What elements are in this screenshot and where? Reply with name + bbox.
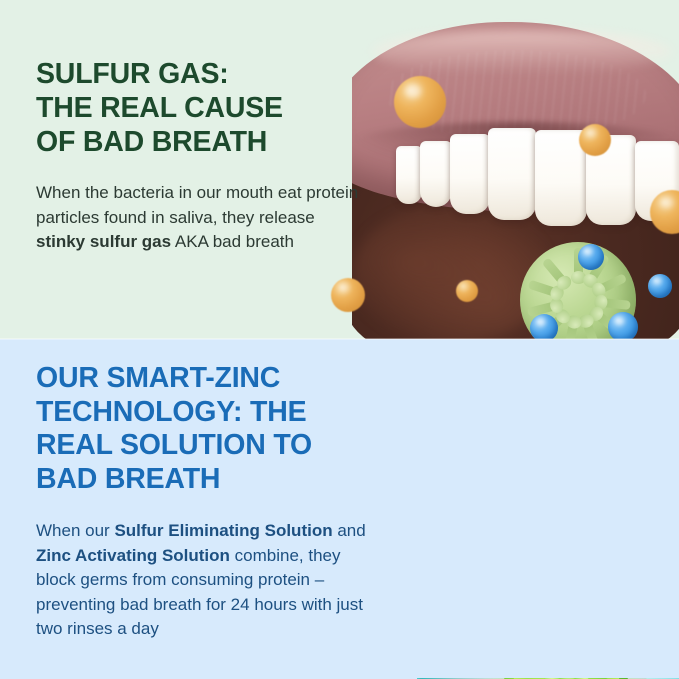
tooth-upper: [535, 130, 587, 226]
bottom-headline-line-3: REAL SOLUTION TO: [36, 429, 312, 461]
top-headline-line-1: SULFUR GAS:: [36, 58, 229, 90]
bacteria-germ-icon: [520, 242, 636, 339]
top-body-emphasis: stinky sulfur gas: [36, 232, 171, 251]
tooth-upper: [420, 141, 452, 207]
sulfur-gas-particle: [579, 124, 611, 156]
bottom-headline-line-1: OUR SMART-ZINC: [36, 362, 280, 394]
sulfur-gas-particle: [456, 280, 478, 302]
tooth-upper: [396, 146, 422, 204]
bottom-body-emphasis-1: Sulfur Eliminating Solution: [114, 521, 332, 540]
germ-spike: [598, 273, 627, 293]
bottom-headline-line-4: BAD BREATH: [36, 463, 220, 495]
top-headline: SULFUR GAS: THE REAL CAUSE OF BAD BREATH: [36, 57, 366, 159]
germ-spike: [594, 311, 622, 335]
oral-cavity: [352, 54, 679, 339]
germ-spike: [563, 323, 578, 339]
germ-spike: [526, 301, 555, 317]
bottom-body-text: When our Sulfur Eliminating Solution and…: [36, 519, 366, 642]
zinc-particle: [578, 244, 604, 270]
germ-spike: [539, 314, 565, 339]
bottom-headline: OUR SMART-ZINC TECHNOLOGY: THE REAL SOLU…: [36, 362, 366, 496]
germ-core: [520, 242, 636, 339]
germ-spike: [527, 280, 556, 297]
infographic-poster: SULFUR GAS: THE REAL CAUSE OF BAD BREATH…: [0, 0, 679, 679]
germ-spike: [582, 321, 600, 339]
germ-spike: [574, 248, 583, 276]
germ-spike: [587, 254, 609, 283]
top-body-text: When the bacteria in our mouth eat prote…: [36, 181, 366, 255]
sulfur-gas-particle: [331, 278, 365, 312]
bottom-body-part-2: and: [333, 521, 366, 540]
zinc-particle: [608, 312, 638, 339]
top-body-part-2: AKA bad breath: [171, 232, 294, 251]
sulfur-gas-particle: [650, 190, 679, 234]
tooth-upper: [635, 141, 679, 221]
tooth-upper: [488, 128, 536, 220]
germ-spike: [601, 298, 630, 310]
panel-divider: [0, 338, 679, 340]
upper-mouth-graphic: [352, 0, 679, 339]
gumline-shadow: [352, 122, 679, 172]
top-text-block: SULFUR GAS: THE REAL CAUSE OF BAD BREATH…: [36, 57, 366, 255]
sulfur-gas-particle: [394, 76, 446, 128]
top-headline-line-2: THE REAL CAUSE: [36, 92, 283, 124]
bottom-body-part-1: When our: [36, 521, 114, 540]
tooth-upper: [450, 134, 490, 214]
bottom-panel-smart-zinc: OUR SMART-ZINC TECHNOLOGY: THE REAL SOLU…: [0, 339, 679, 679]
top-body-part-1: When the bacteria in our mouth eat prote…: [36, 183, 358, 227]
germ-spike: [541, 257, 566, 284]
upper-lip-and-gum: [352, 22, 679, 212]
tooth-upper: [586, 135, 636, 225]
bottom-headline-line-2: TECHNOLOGY: THE: [36, 396, 306, 428]
bottom-text-block: OUR SMART-ZINC TECHNOLOGY: THE REAL SOLU…: [36, 362, 366, 642]
bottom-body-emphasis-2: Zinc Activating Solution: [36, 546, 230, 565]
zinc-particle: [530, 314, 558, 339]
zinc-particle: [648, 274, 672, 298]
top-panel-sulfur-gas: SULFUR GAS: THE REAL CAUSE OF BAD BREATH…: [0, 0, 679, 339]
lip-highlight: [372, 30, 672, 74]
top-headline-line-3: OF BAD BREATH: [36, 126, 267, 158]
upper-teeth-row: [352, 128, 679, 238]
cavity-texture: [352, 204, 552, 339]
